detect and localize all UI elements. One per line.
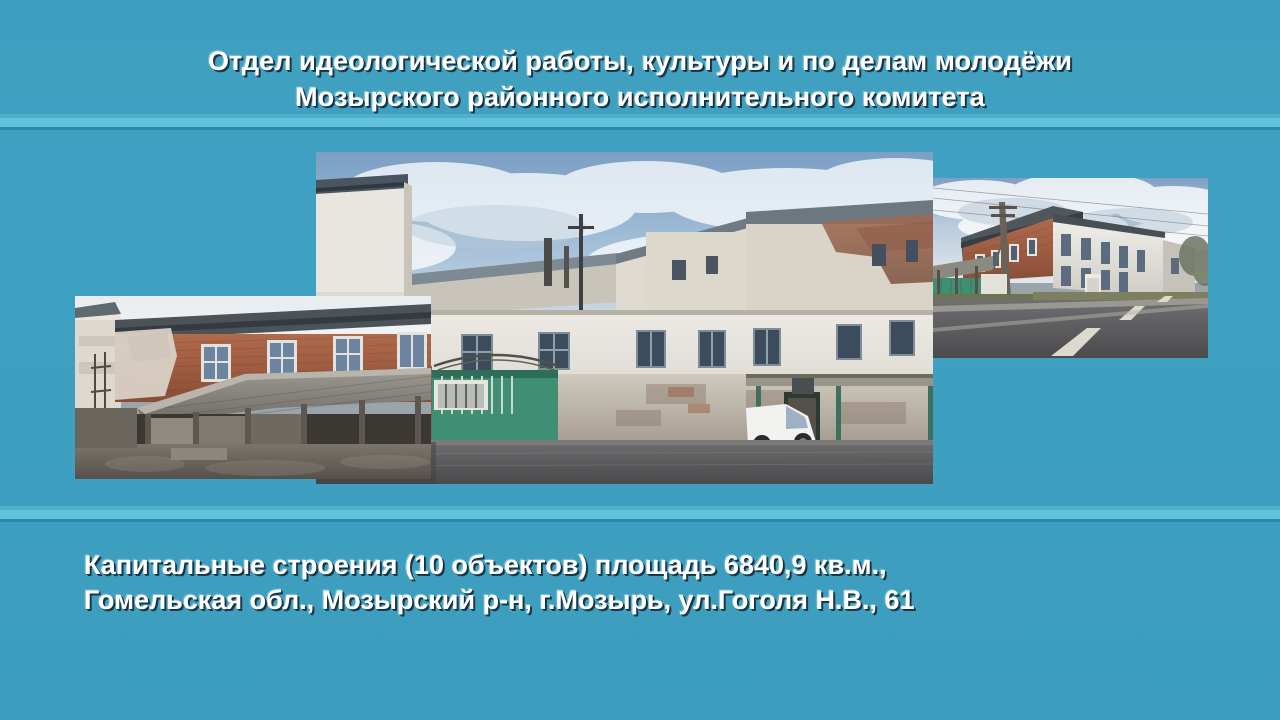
left-photo-artwork — [75, 296, 431, 479]
divider-bottom-dark-band — [0, 519, 1280, 522]
presentation-slide: Отдел идеологической работы, культуры и … — [0, 0, 1280, 720]
caption-line-1: Капитальные строения (10 объектов) площа… — [84, 548, 887, 582]
slide-title-line-1: Отдел идеологической работы, культуры и … — [0, 44, 1280, 78]
slide-title-line-2: Мозырского районного исполнительного ком… — [0, 80, 1280, 114]
divider-top-light-band — [0, 118, 1280, 127]
right-photo-street-view-building — [933, 178, 1208, 358]
divider-bottom-light-band — [0, 510, 1280, 519]
caption-line-2: Гомельская обл., Мозырский р-н, г.Мозырь… — [84, 583, 915, 617]
divider-top-dark-band — [0, 127, 1280, 130]
left-photo-brick-building-canopy — [75, 296, 431, 479]
right-photo-artwork — [933, 178, 1208, 358]
